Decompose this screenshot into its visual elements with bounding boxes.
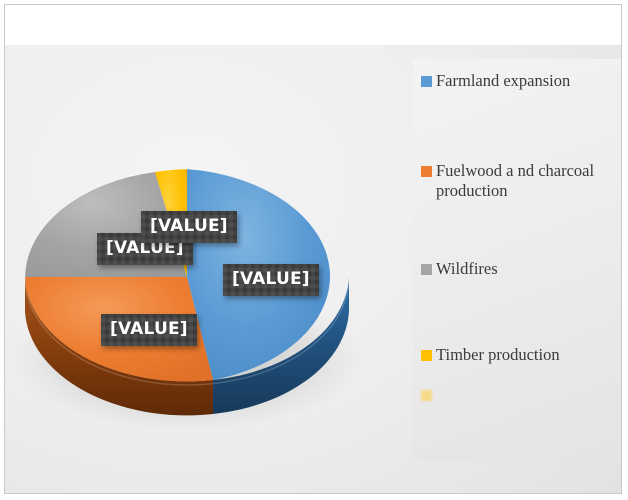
legend-item-timber-production[interactable]: Timber production — [421, 345, 619, 365]
legend-swatch-extra-icon — [421, 390, 432, 401]
pie-chart-svg — [15, 65, 405, 445]
legend-swatch-timber-icon — [421, 350, 432, 361]
data-label-wildfires-text: [VALUE] — [150, 216, 228, 236]
legend-item-wildfires[interactable]: Wildfires — [421, 259, 619, 279]
data-label-wildfires[interactable]: [VALUE] — [141, 211, 237, 243]
legend-label-farmland: Farmland expansion — [436, 71, 570, 91]
slide-title-area — [5, 5, 621, 45]
slide-canvas: [VALUE] [VALUE] [VALUE] [VALUE] Farmland… — [4, 4, 622, 494]
legend-label-fuelwood: Fuelwood a nd charcoal production — [436, 161, 619, 201]
legend-swatch-fuelwood-icon — [421, 166, 432, 177]
legend-item-unlabeled[interactable] — [421, 385, 619, 401]
legend-label-wildfires: Wildfires — [436, 259, 498, 279]
pie-chart-plot-area[interactable]: [VALUE] [VALUE] [VALUE] [VALUE] — [15, 65, 405, 445]
legend-item-farmland-expansion[interactable]: Farmland expansion — [421, 71, 619, 91]
legend-label-timber: Timber production — [436, 345, 560, 365]
legend-swatch-wildfires-icon — [421, 264, 432, 275]
data-label-fuelwood[interactable]: [VALUE] — [101, 314, 197, 346]
chart-container[interactable]: [VALUE] [VALUE] [VALUE] [VALUE] Farmland… — [5, 45, 621, 494]
legend-swatch-farmland-icon — [421, 76, 432, 87]
chart-legend[interactable]: Farmland expansion Fuelwood a nd charcoa… — [413, 59, 621, 461]
data-label-farmland[interactable]: [VALUE] — [223, 264, 319, 296]
data-label-farmland-text: [VALUE] — [232, 269, 310, 289]
data-label-fuelwood-text: [VALUE] — [110, 319, 188, 339]
legend-item-fuelwood-charcoal[interactable]: Fuelwood a nd charcoal production — [421, 161, 619, 201]
